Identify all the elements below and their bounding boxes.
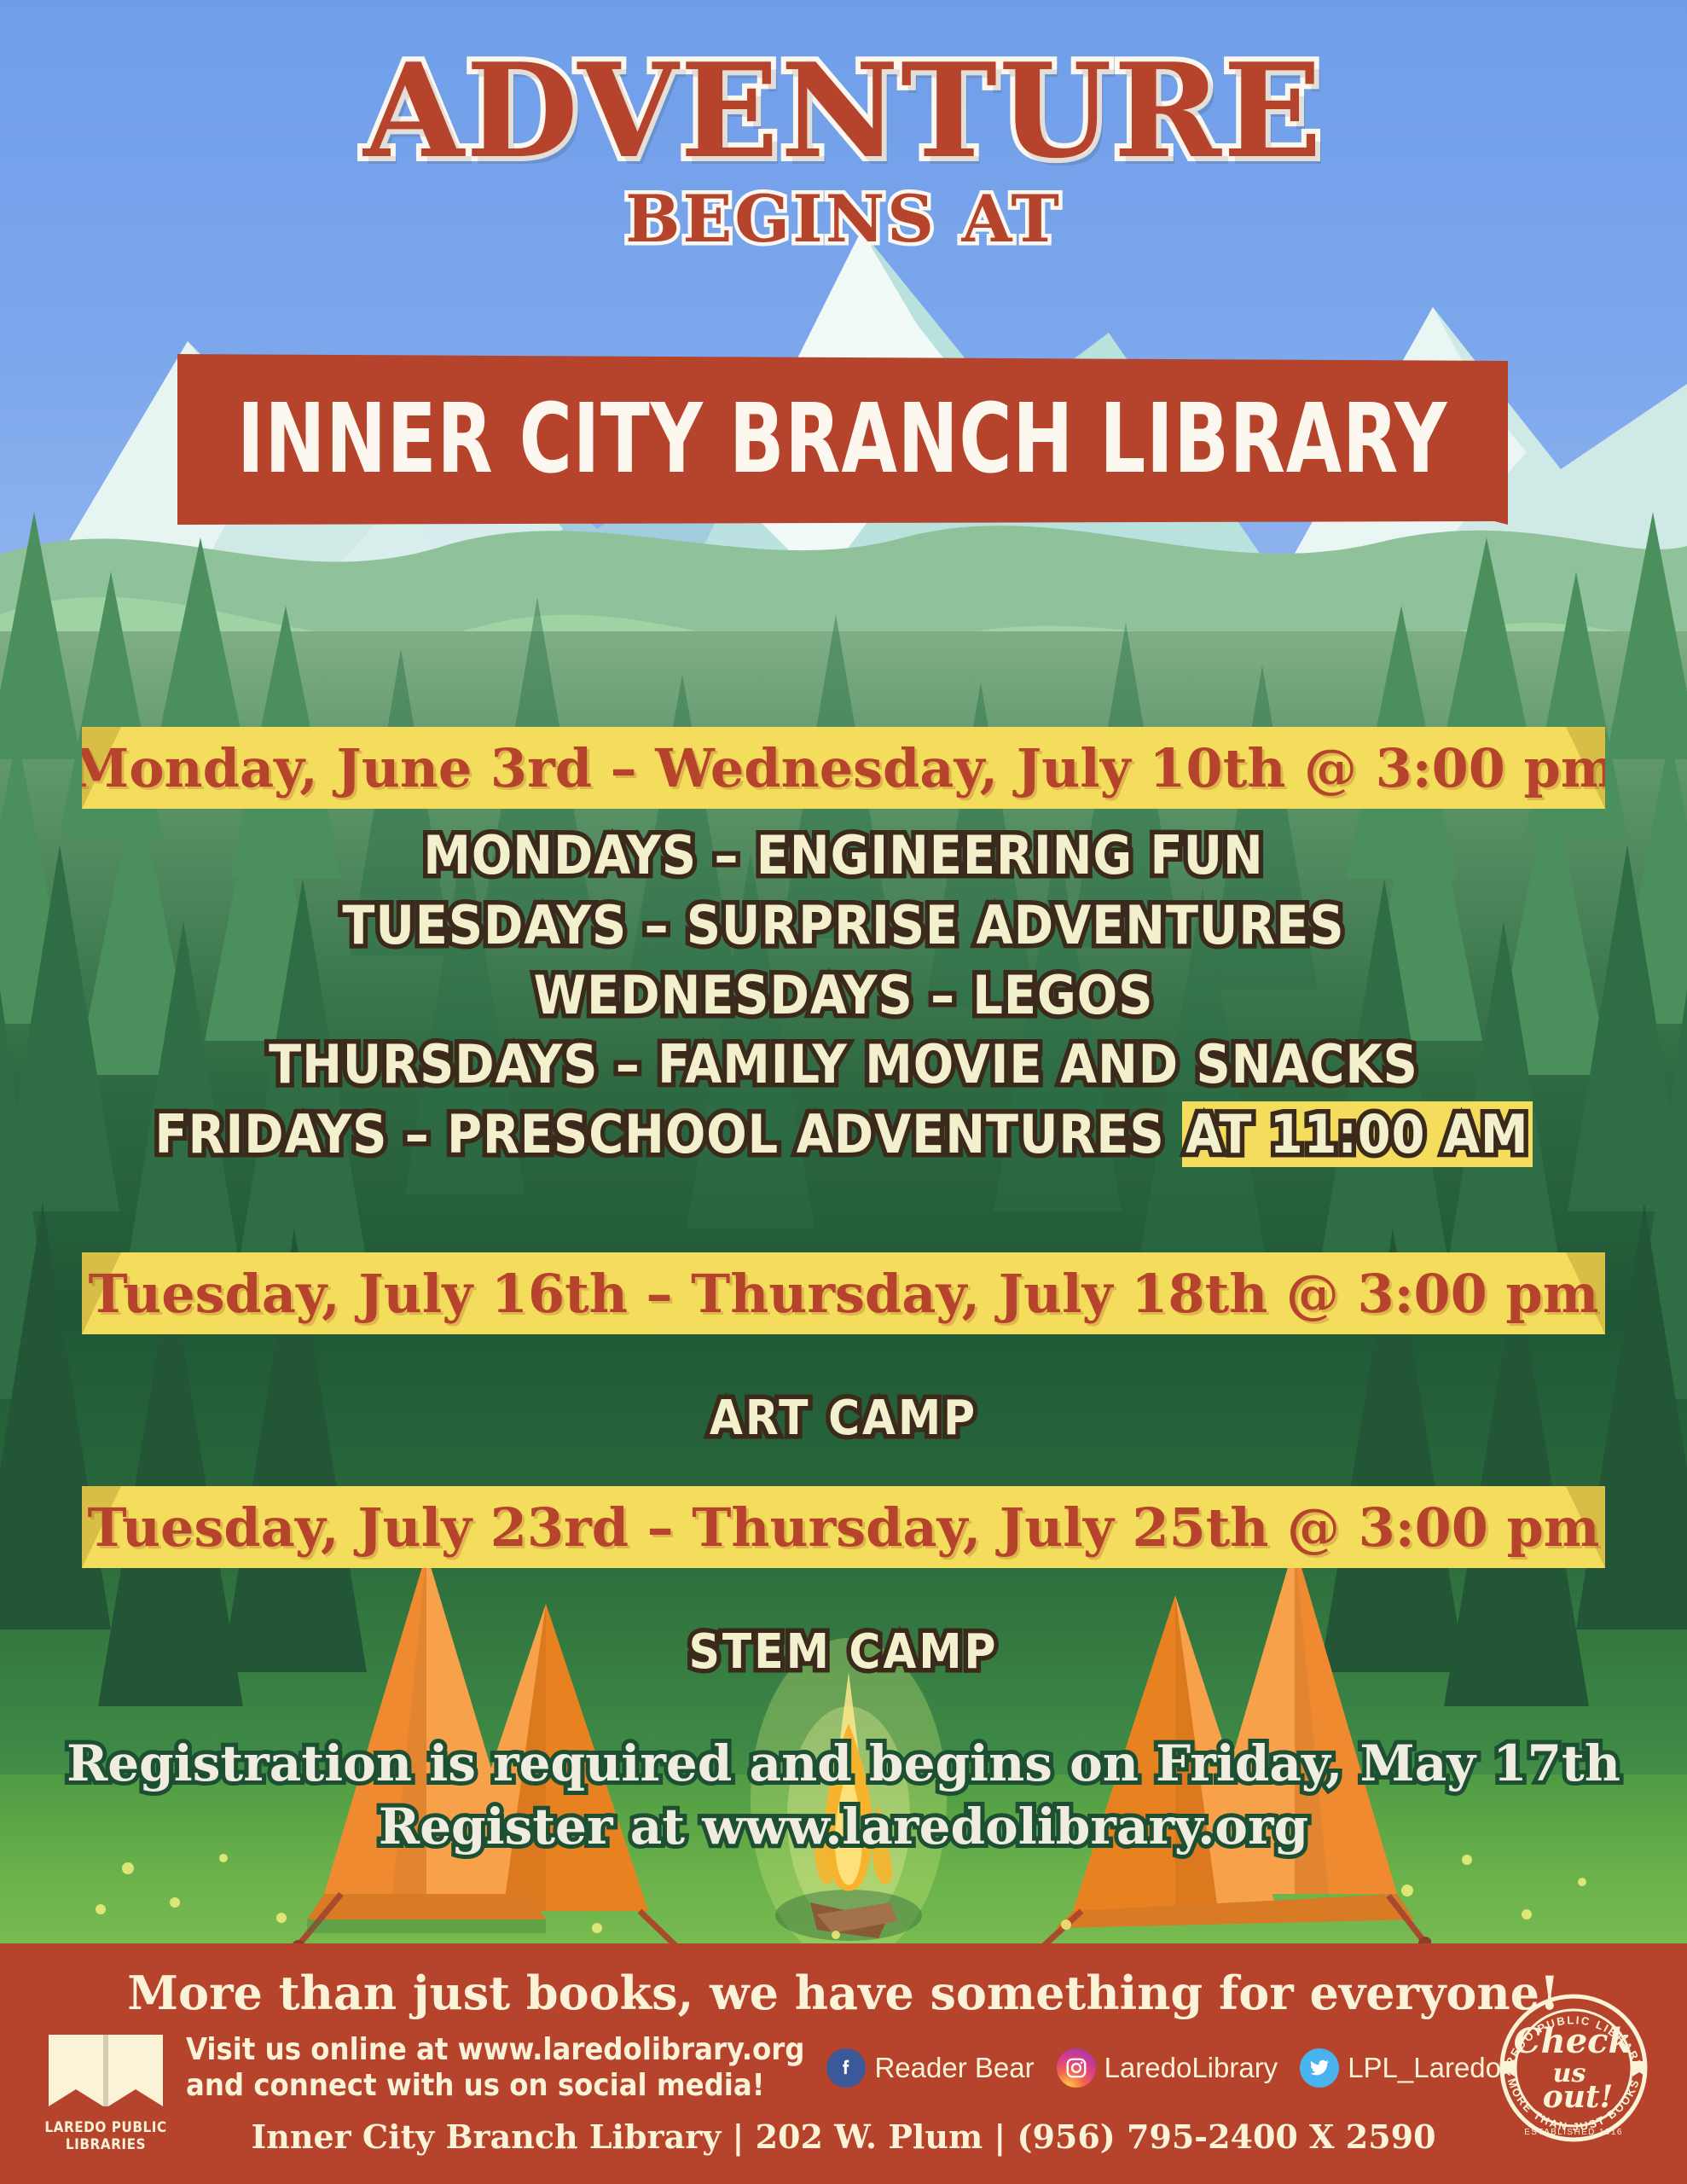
seal-script-check: Check — [1514, 2021, 1632, 2061]
registration-info: Registration is required and begins on F… — [0, 1732, 1687, 1858]
schedule-item-friday: FRIDAYS – PRESCHOOL ADVENTURES AT 11:00 … — [0, 1100, 1687, 1170]
brand-name-label: LAREDO PUBLIC LIBRARIES — [20, 2119, 191, 2153]
art-camp-label: ART CAMP — [0, 1391, 1687, 1446]
visit-line-1: Visit us online at www.laredolibrary.org — [186, 2032, 804, 2068]
session-date-range: Tuesday, July 16th – Thursday, July 18th… — [89, 1263, 1599, 1325]
page-title: ADVENTURE — [0, 46, 1687, 176]
poster-title-block: ADVENTURE BEGINS AT — [0, 46, 1687, 257]
facebook-handle: Reader Bear — [874, 2052, 1034, 2084]
instagram-handle: LaredoLibrary — [1104, 2052, 1278, 2084]
session-ribbon-stem-camp: Tuesday, July 23rd – Thursday, July 25th… — [82, 1486, 1605, 1568]
schedule-item-monday: MONDAYS – ENGINEERING FUN — [0, 821, 1687, 891]
registration-line-1: Registration is required and begins on F… — [0, 1732, 1687, 1795]
session-date-range: Tuesday, July 23rd – Thursday, July 25th… — [88, 1496, 1600, 1559]
session-date-range: Monday, June 3rd – Wednesday, July 10th … — [71, 737, 1617, 799]
stem-camp-label: STEM CAMP — [0, 1624, 1687, 1680]
venue-banner-label: INNER CITY BRANCH LIBRARY — [238, 384, 1448, 495]
twitter-handle: LPL_Laredo — [1348, 2052, 1501, 2084]
weekly-schedule-list: MONDAYS – ENGINEERING FUN TUESDAYS – SUR… — [0, 821, 1687, 1170]
check-us-out-seal: LAREDO PUBLIC LIBRARIES MORE THAN JUST B… — [1484, 1983, 1663, 2162]
twitter-icon — [1300, 2048, 1339, 2088]
footer-address: Inner City Branch Library | 202 W. Plum … — [0, 2117, 1687, 2156]
footer-tagline: More than just books, we have something … — [0, 1943, 1687, 2020]
schedule-item-friday-text: FRIDAYS – PRESCHOOL ADVENTURES — [154, 1103, 1182, 1165]
social-twitter[interactable]: LPL_Laredo — [1300, 2048, 1501, 2088]
visit-line-2: and connect with us on social media! — [186, 2068, 804, 2104]
laredo-public-libraries-logo: LAREDO PUBLIC LIBRARIES — [20, 2033, 191, 2153]
instagram-icon — [1057, 2048, 1096, 2088]
schedule-item-tuesday: TUESDAYS – SURPRISE ADVENTURES — [0, 891, 1687, 961]
seal-script-out: out! — [1543, 2079, 1614, 2115]
open-book-icon — [42, 2033, 170, 2111]
social-instagram[interactable]: LaredoLibrary — [1057, 2048, 1278, 2088]
footer-contact-row: Visit us online at www.laredolibrary.org… — [0, 2032, 1687, 2104]
social-facebook[interactable]: Reader Bear — [826, 2048, 1034, 2088]
poster-canvas: ADVENTURE BEGINS AT INNER CITY BRANCH LI… — [0, 0, 1687, 2184]
seal-established-label: ESTABLISHED 1916 — [1524, 2128, 1623, 2137]
footer-bar: More than just books, we have something … — [0, 1943, 1687, 2184]
facebook-icon — [826, 2048, 866, 2088]
session-ribbon-art-camp: Tuesday, July 16th – Thursday, July 18th… — [82, 1252, 1605, 1334]
session-ribbon-summer-series: Monday, June 3rd – Wednesday, July 10th … — [82, 727, 1605, 809]
schedule-item-thursday: THURSDAYS – FAMILY MOVIE AND SNACKS — [0, 1030, 1687, 1100]
visit-online-block: Visit us online at www.laredolibrary.org… — [186, 2032, 804, 2104]
schedule-item-wednesday: WEDNESDAYS – LEGOS — [0, 961, 1687, 1031]
registration-line-2: Register at www.laredolibrary.org — [0, 1795, 1687, 1858]
schedule-item-friday-time-highlight: AT 11:00 AM — [1182, 1101, 1532, 1167]
venue-banner: INNER CITY BRANCH LIBRARY — [177, 354, 1508, 525]
page-subtitle: BEGINS AT — [0, 181, 1687, 257]
